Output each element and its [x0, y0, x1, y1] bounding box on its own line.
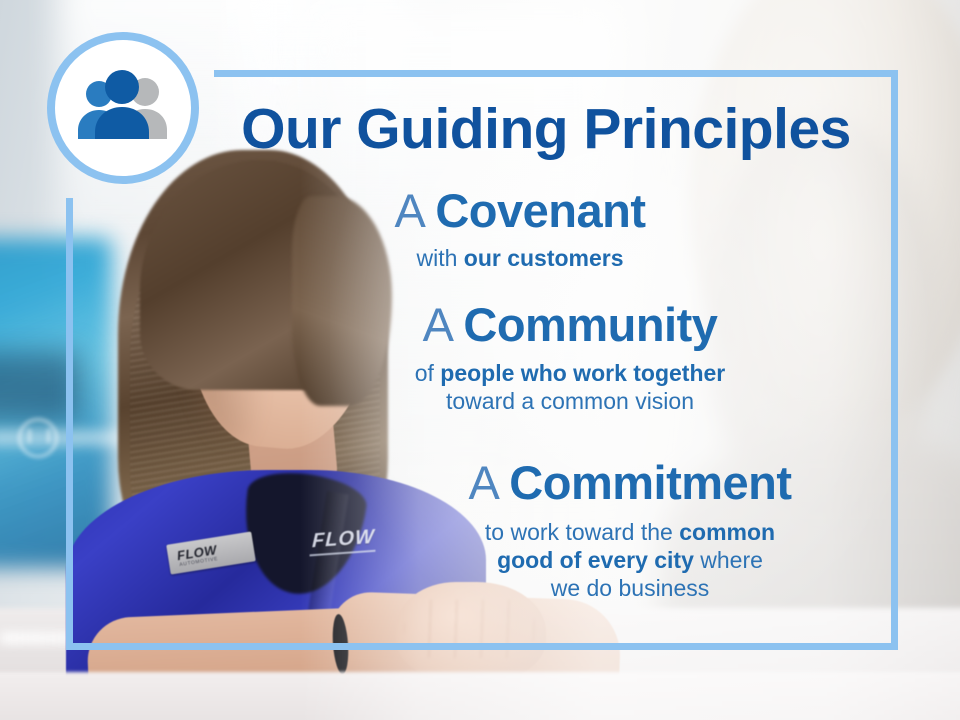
principle-covenant-subtext-run: with — [416, 245, 463, 271]
principle-commitment-subtext-run: we do business — [551, 575, 710, 601]
shirt-flow-logo: FLOW — [312, 526, 376, 553]
principle-covenant-heading: A Covenant — [270, 186, 770, 235]
principle-covenant-subtext-run: our customers — [464, 245, 624, 271]
principle-commitment-subtext-run: common — [679, 519, 775, 545]
principle-commitment-subtext-line: to work toward the common — [380, 518, 880, 546]
principle-community-subtext-run: toward a common vision — [446, 388, 694, 414]
principle-commitment-subtext-line: we do business — [380, 574, 880, 602]
principle-community-subtext-line: toward a common vision — [310, 387, 830, 415]
page-title: Our Guiding Principles — [216, 96, 876, 162]
principle-commitment-word: Commitment — [509, 456, 791, 509]
principle-community: A Community of people who work togethert… — [310, 300, 830, 415]
principle-community-subtext-run: of — [415, 360, 441, 386]
principle-covenant-article: A — [395, 184, 423, 237]
principle-covenant: A Covenant with our customers — [270, 186, 770, 272]
principle-commitment-subtext-line: good of every city where — [380, 546, 880, 574]
principle-commitment-heading: A Commitment — [380, 458, 880, 507]
principle-covenant-subtext-line: with our customers — [270, 244, 770, 272]
people-group-icon — [71, 69, 175, 147]
principle-community-article: A — [423, 298, 451, 351]
principle-community-heading: A Community — [310, 300, 830, 349]
principle-commitment-subtext-run: where — [694, 547, 763, 573]
principle-commitment-subtext: to work toward the commongood of every c… — [380, 518, 880, 602]
principle-commitment-subtext-run: good of every city — [497, 547, 694, 573]
principle-community-subtext-line: of people who work together — [310, 359, 830, 387]
principle-community-word: Community — [463, 298, 717, 351]
person-fingers — [404, 600, 536, 658]
principle-covenant-subtext: with our customers — [270, 244, 770, 272]
principle-community-subtext-run: people who work together — [440, 360, 725, 386]
people-group-badge — [47, 32, 199, 184]
principle-community-subtext: of people who work togethertoward a comm… — [310, 359, 830, 415]
banner-graphic: FLOW FLOW AUTOMOTIVE — [0, 0, 960, 720]
principle-commitment-article: A — [468, 456, 496, 509]
principle-commitment: A Commitment to work toward the commongo… — [380, 458, 880, 602]
principle-covenant-word: Covenant — [435, 184, 645, 237]
table-top — [0, 672, 960, 720]
principle-commitment-subtext-run: to work toward the — [485, 519, 679, 545]
